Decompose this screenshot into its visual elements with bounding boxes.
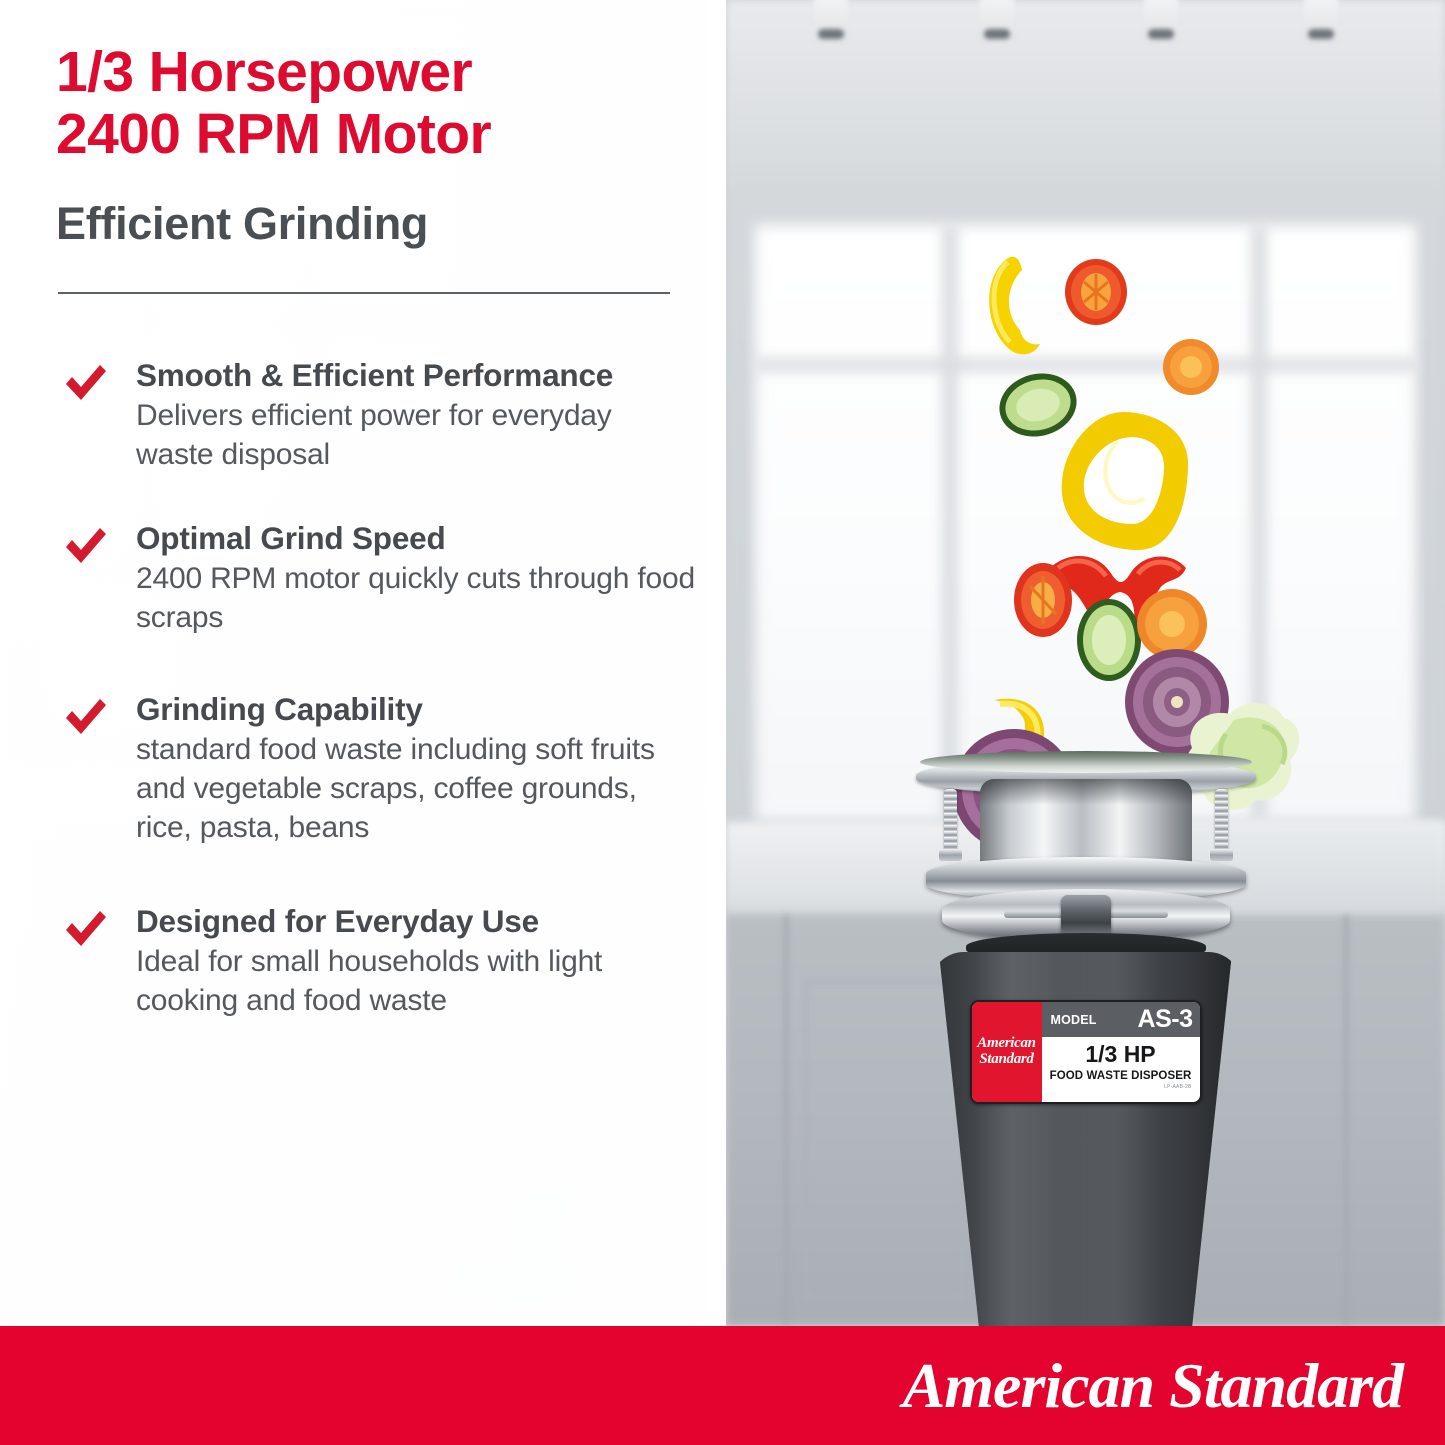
feature-description: Ideal for small households with light co… (136, 942, 696, 1020)
carrot-slice-icon (1162, 338, 1220, 396)
feature-title: Smooth & Efficient Performance (136, 355, 696, 396)
yellow-pepper-strip-icon (978, 252, 1052, 362)
tomato-half-icon (1012, 562, 1074, 638)
list-item: Smooth & Efficient Performance Delivers … (56, 355, 696, 474)
subheadline: Efficient Grinding (56, 198, 696, 250)
product-label: American Standard MODEL AS-3 1/3 HP FOOD… (970, 1000, 1202, 1104)
brand-line-1: American (977, 1036, 1035, 1052)
brand-script-logo: American Standard (977, 1036, 1035, 1068)
headline-line-1: 1/3 Horsepower (56, 42, 696, 104)
label-horsepower: 1/3 HP (1042, 1037, 1200, 1070)
clamp-arm (1004, 911, 1066, 918)
label-model-row: MODEL AS-3 (1042, 1002, 1200, 1037)
right-product-panel: American Standard MODEL AS-3 1/3 HP FOOD… (726, 0, 1445, 1326)
cabinet-door (805, 981, 963, 1299)
page-title: 1/3 Horsepower 2400 RPM Motor (56, 42, 696, 165)
headline-line-2: 2400 RPM Motor (56, 104, 696, 166)
label-product-type: FOOD WASTE DISPOSER (1042, 1070, 1200, 1082)
tomato-slice-icon (1064, 258, 1128, 326)
red-check-icon (62, 907, 108, 953)
product-feature-banner: 1/3 Horsepower 2400 RPM Motor Efficient … (0, 0, 1445, 1445)
red-check-icon (62, 695, 108, 741)
ceiling-light-icon (814, 0, 848, 42)
mounting-nut (939, 849, 962, 861)
label-part-code: LP-AAB-2B (1042, 1082, 1200, 1090)
clamp-arm (1106, 911, 1168, 918)
mount-collar-shadow (980, 779, 1192, 805)
label-brand-block: American Standard (972, 1002, 1042, 1102)
ceiling-light-icon (1304, 0, 1338, 42)
sink-flange-top (920, 751, 1252, 773)
red-check-icon (62, 524, 108, 570)
yellow-pepper-ring-icon (1056, 408, 1192, 554)
feature-description: Delivers efficient power for everyday wa… (136, 396, 696, 474)
list-item: Optimal Grind Speed 2400 RPM motor quick… (56, 518, 696, 637)
cabinet-seam (784, 915, 788, 1326)
list-item: Designed for Everyday Use Ideal for smal… (56, 901, 696, 1020)
footer-brand-logo: American Standard (903, 1349, 1403, 1423)
footer-bar: American Standard (0, 1326, 1445, 1445)
clamp-latch (1061, 895, 1111, 935)
feature-title: Designed for Everyday Use (136, 901, 696, 942)
mounting-nut (1210, 849, 1233, 861)
feature-list: Smooth & Efficient Performance Delivers … (56, 355, 696, 1058)
brand-line-2: Standard (977, 1052, 1035, 1068)
label-info-block: MODEL AS-3 1/3 HP FOOD WASTE DISPOSER LP… (1042, 1002, 1200, 1102)
feature-description: standard food waste including soft fruit… (136, 730, 696, 847)
label-model-word: MODEL (1051, 1013, 1097, 1027)
feature-title: Optimal Grind Speed (136, 518, 696, 559)
ceiling-light-icon (980, 0, 1014, 42)
cabinet-seam (1344, 915, 1348, 1326)
list-item: Grinding Capability standard food waste … (56, 689, 696, 847)
window-mullion-horizontal (755, 358, 1416, 372)
mounting-bolt (944, 789, 957, 857)
mounting-bolt (1215, 789, 1228, 857)
red-check-icon (62, 361, 108, 407)
label-model-value: AS-3 (1138, 1005, 1193, 1034)
title-divider (58, 292, 670, 294)
feature-title: Grinding Capability (136, 689, 696, 730)
left-text-panel: 1/3 Horsepower 2400 RPM Motor Efficient … (0, 0, 726, 1326)
feature-description: 2400 RPM motor quickly cuts through food… (136, 559, 696, 637)
ceiling-light-icon (1144, 0, 1178, 42)
